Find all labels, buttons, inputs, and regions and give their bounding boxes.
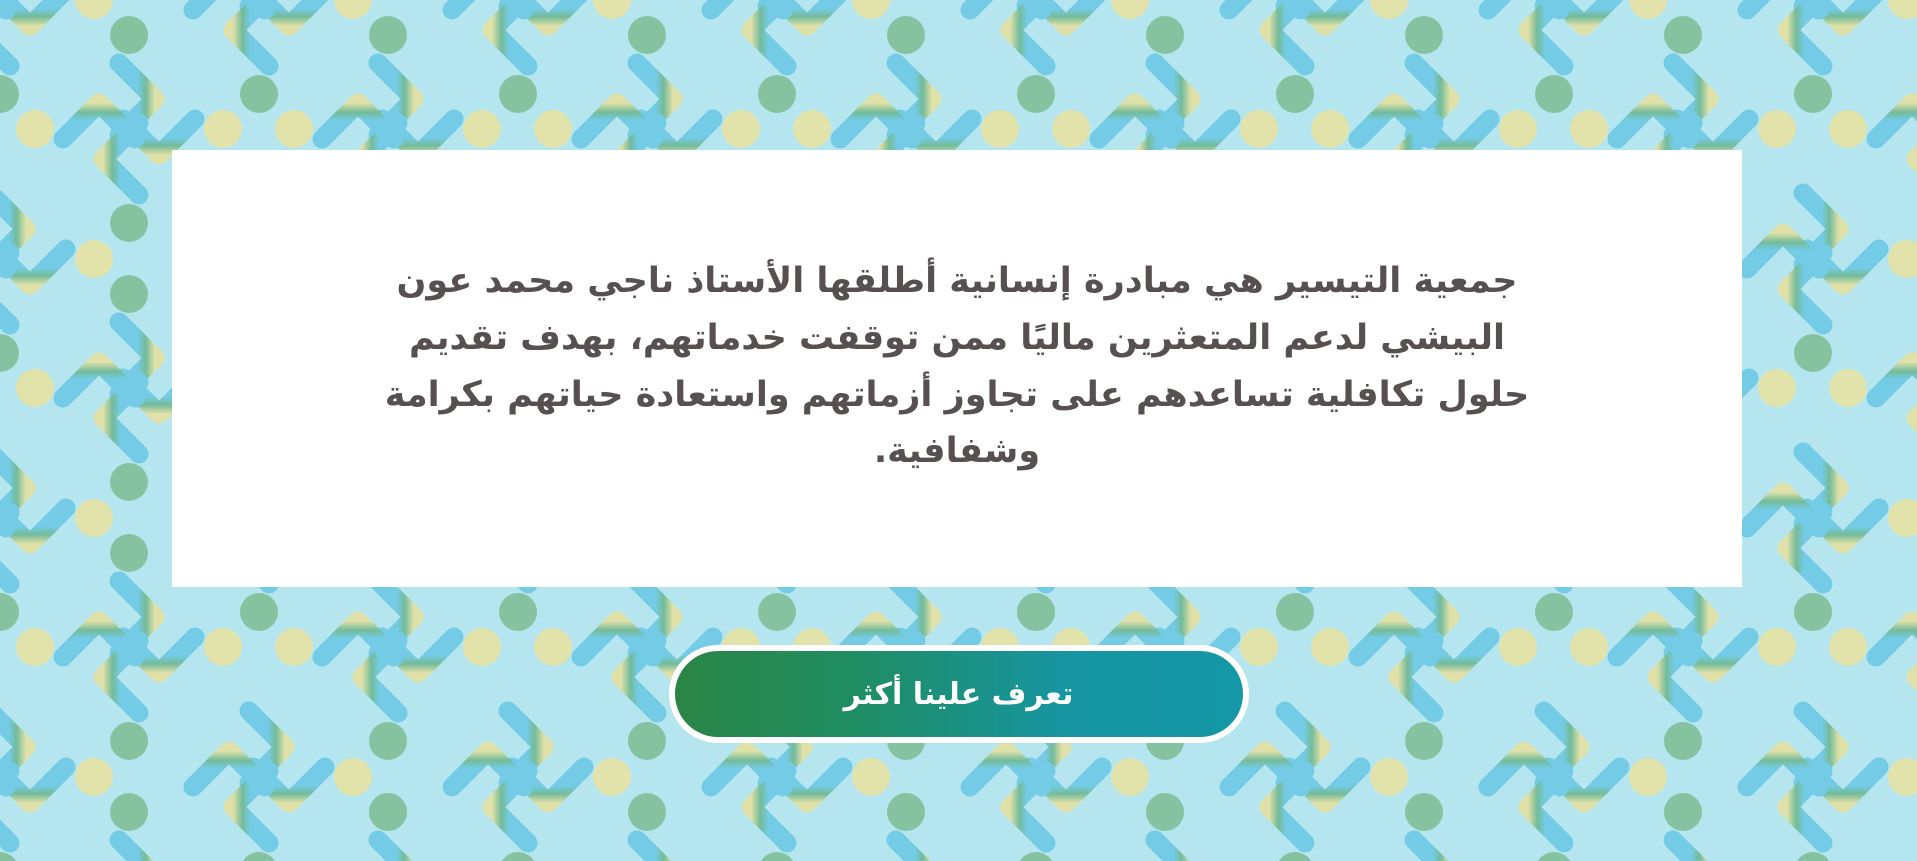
learn-more-button[interactable]: تعرف علينا أكثر (669, 645, 1249, 743)
about-paragraph: جمعية التيسير هي مبادرة إنسانية أطلقها ا… (367, 253, 1547, 484)
cta-container: تعرف علينا أكثر (0, 645, 1917, 743)
page-root: جمعية التيسير هي مبادرة إنسانية أطلقها ا… (0, 0, 1917, 861)
about-card: جمعية التيسير هي مبادرة إنسانية أطلقها ا… (172, 150, 1742, 587)
